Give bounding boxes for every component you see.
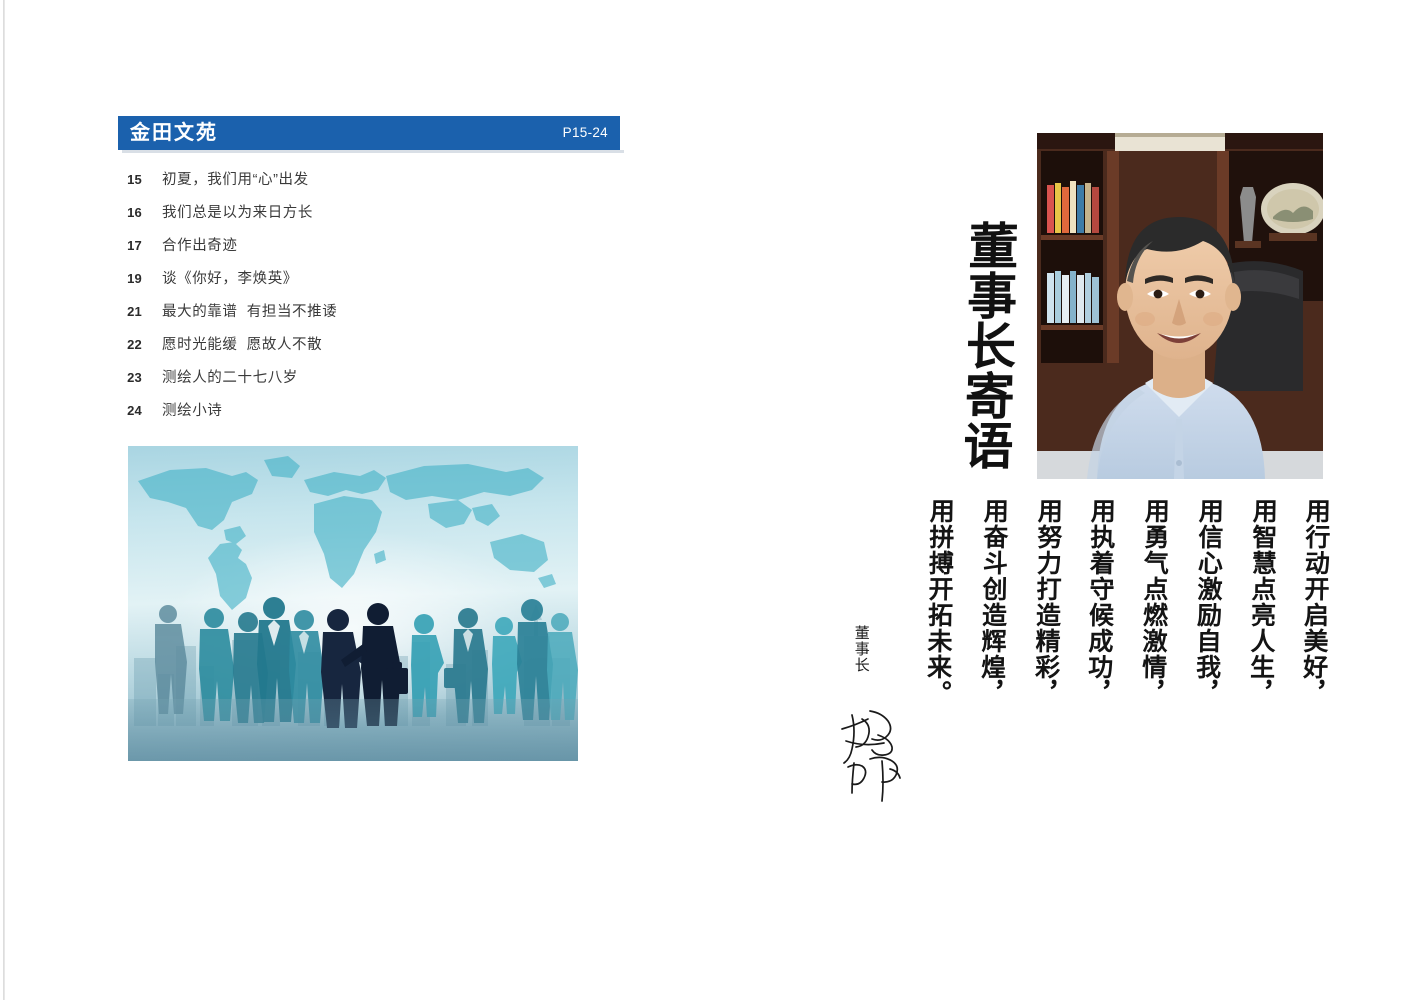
- list-item[interactable]: 15 初夏，我们用“心”出发: [118, 168, 638, 201]
- toc-entry-title: 愿时光能缓 愿故人不散: [162, 333, 322, 354]
- poem-column: 用奋斗创造辉煌，: [952, 498, 1009, 706]
- left-page: 金田文苑 P15-24 15 初夏，我们用“心”出发 16 我们总是以为来日方长…: [0, 0, 705, 1000]
- page-title: 金田文苑: [130, 116, 218, 150]
- toc-header-bar: 金田文苑 P15-24: [118, 116, 620, 150]
- poem-column: 用努力打造精彩，: [1006, 498, 1063, 706]
- chairman-portrait-photo: [1037, 133, 1323, 479]
- signature-block: 董事长: [838, 625, 918, 687]
- toc-page-number: 23: [118, 370, 162, 385]
- toc-page-number: 17: [118, 238, 162, 253]
- signature-title-label: 董事长: [852, 625, 871, 687]
- table-of-contents: 15 初夏，我们用“心”出发 16 我们总是以为来日方长 17 合作出奇迹 19…: [118, 168, 638, 432]
- list-item[interactable]: 23 测绘人的二十七八岁: [118, 366, 638, 399]
- magazine-spread-page: 金田文苑 P15-24 15 初夏，我们用“心”出发 16 我们总是以为来日方长…: [0, 0, 1410, 1000]
- toc-entry-title: 测绘人的二十七八岁: [162, 366, 298, 387]
- handwritten-signature: [832, 697, 918, 809]
- list-item[interactable]: 22 愿时光能缓 愿故人不散: [118, 333, 638, 366]
- header-bar-shadow: [122, 150, 624, 153]
- list-item[interactable]: 17 合作出奇迹: [118, 234, 638, 267]
- poem-column: 用执着守候成功，: [1059, 498, 1116, 706]
- poem-column: 用智慧点亮人生，: [1221, 498, 1278, 706]
- business-silhouettes-image: [128, 446, 578, 761]
- toc-page-number: 24: [118, 403, 162, 418]
- list-item[interactable]: 21 最大的靠谱 有担当不推诿: [118, 300, 638, 333]
- portrait-illustration: [1037, 133, 1323, 479]
- toc-entry-title: 谈《你好，李焕英》: [162, 267, 298, 288]
- toc-entry-title: 测绘小诗: [162, 399, 222, 420]
- floor-reflection: [128, 699, 578, 761]
- toc-entry-title: 我们总是以为来日方长: [162, 201, 313, 222]
- poem-column: 用勇气点燃激情，: [1113, 498, 1170, 706]
- toc-entry-title: 最大的靠谱 有担当不推诿: [162, 300, 337, 321]
- toc-page-number: 22: [118, 337, 162, 352]
- list-item[interactable]: 24 测绘小诗: [118, 399, 638, 432]
- page-range-label: P15-24: [563, 116, 608, 150]
- toc-entry-title: 合作出奇迹: [162, 234, 238, 255]
- toc-entry-title: 初夏，我们用“心”出发: [162, 168, 309, 189]
- toc-page-number: 15: [118, 172, 162, 187]
- chairman-message-heading: 董事长寄语: [938, 205, 1019, 485]
- chairman-message-poem: 用行动开启美好， 用智慧点亮人生， 用信心激励自我， 用勇气点燃激情， 用执着守…: [900, 498, 1330, 818]
- poem-column: 用信心激励自我，: [1167, 498, 1224, 706]
- list-item[interactable]: 19 谈《你好，李焕英》: [118, 267, 638, 300]
- list-item[interactable]: 16 我们总是以为来日方长: [118, 201, 638, 234]
- toc-page-number: 19: [118, 271, 162, 286]
- toc-page-number: 16: [118, 205, 162, 220]
- toc-page-number: 21: [118, 304, 162, 319]
- poem-column: 用行动开启美好，: [1274, 498, 1331, 706]
